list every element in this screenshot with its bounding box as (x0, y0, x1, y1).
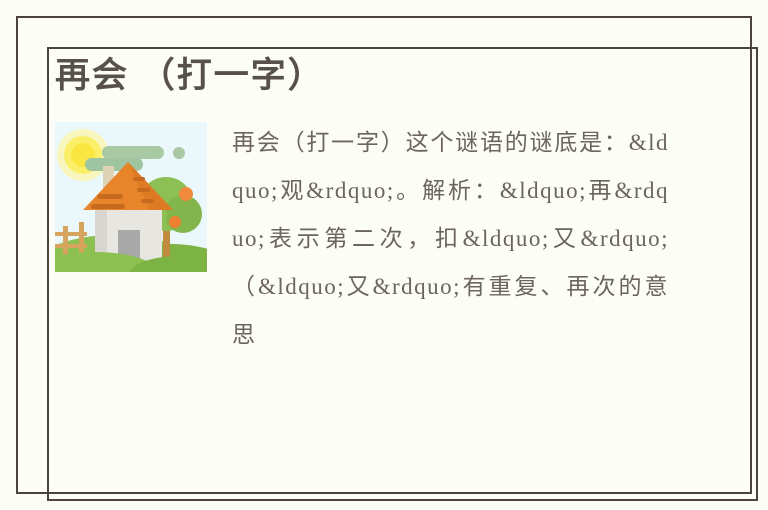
article-thumbnail (55, 122, 207, 272)
content-area: 再会 （打一字） (55, 55, 675, 349)
article-body: 再会（打一字）这个谜语的谜底是：&ldquo;观&rdquo;。解析：&ldqu… (55, 119, 675, 349)
page-title: 再会 （打一字） (55, 55, 675, 97)
riddle-answer-text: 再会（打一字）这个谜语的谜底是：&ldquo;观&rdquo;。解析：&ldqu… (232, 119, 669, 349)
